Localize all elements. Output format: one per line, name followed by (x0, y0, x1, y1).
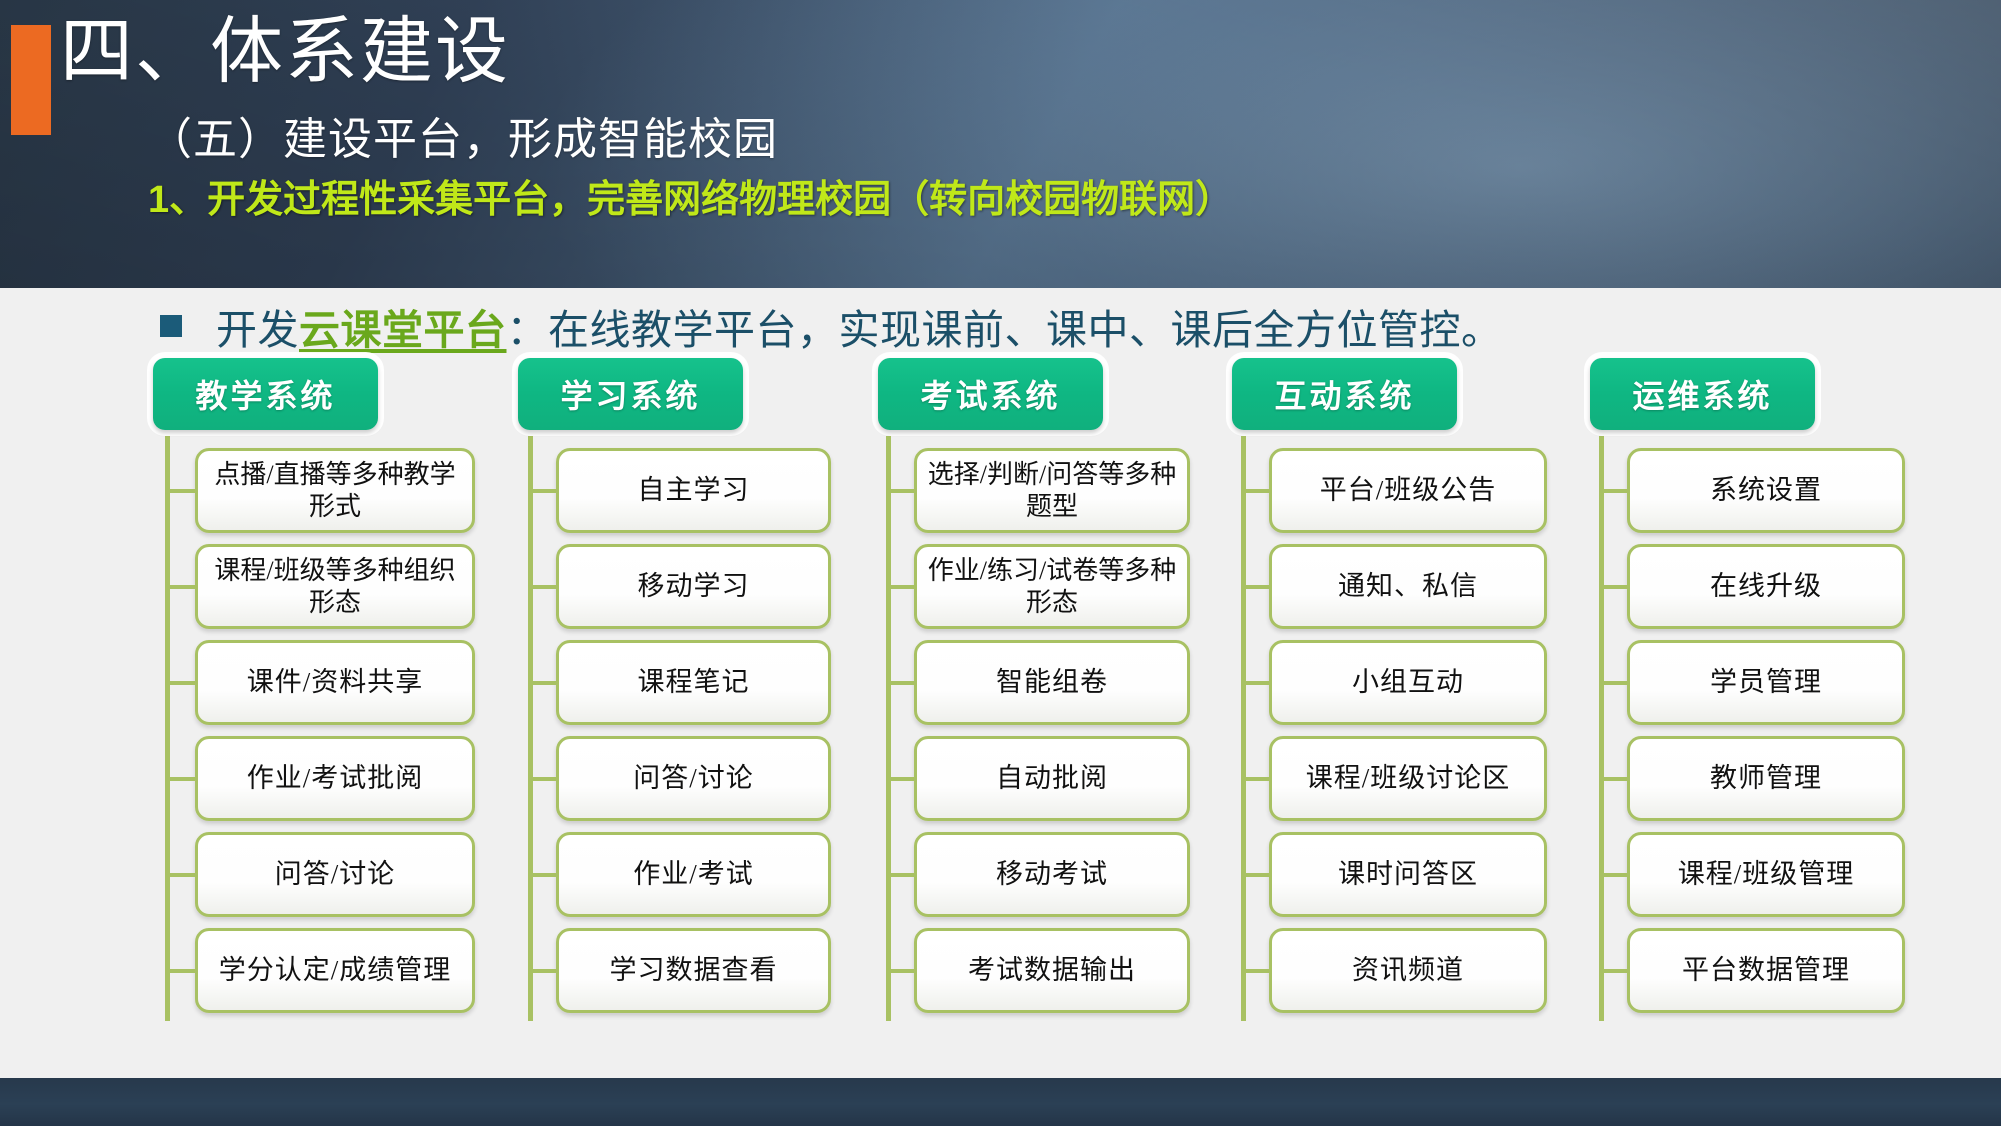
chart-item[interactable]: 移动学习 (556, 544, 831, 629)
column-items: 选择/判断/问答等多种题型 作业/练习/试卷等多种形态 智能组卷 自动批阅 移动… (856, 448, 1214, 1013)
chart-item-label: 资讯频道 (1344, 954, 1472, 987)
chart-item-label: 课件/资料共享 (239, 666, 432, 699)
chart-item-label: 作业/考试 (625, 858, 762, 891)
chart-column-interaction: 互动系统 平台/班级公告 通知、私信 小组互动 课程/班级讨论区 课时问答区 资… (1214, 358, 1572, 1078)
chart-column-learning: 学习系统 自主学习 移动学习 课程笔记 问答/讨论 作业/考试 学习数据查看 (498, 358, 856, 1078)
chart-item-label: 小组互动 (1344, 666, 1472, 699)
header-band: 四、体系建设 （五）建设平台，形成智能校园 1、开发过程性采集平台，完善网络物理… (0, 0, 2001, 288)
column-header-operations[interactable]: 运维系统 (1590, 358, 1815, 430)
chart-item[interactable]: 系统设置 (1627, 448, 1905, 533)
chart-item-label: 平台/班级公告 (1312, 474, 1505, 507)
chart-item-label: 平台数据管理 (1674, 954, 1858, 987)
chart-item[interactable]: 作业/考试 (556, 832, 831, 917)
chart-item-label: 课程笔记 (630, 666, 758, 699)
chart-item[interactable]: 学习数据查看 (556, 928, 831, 1013)
platform-structure-chart: 教学系统 点播/直播等多种教学形式 课程/班级等多种组织形态 课件/资料共享 作… (140, 358, 1930, 1078)
chart-item[interactable]: 选择/判断/问答等多种题型 (914, 448, 1190, 533)
chart-item[interactable]: 课件/资料共享 (195, 640, 475, 725)
chart-item[interactable]: 课时问答区 (1269, 832, 1547, 917)
chart-item-label: 作业/练习/试卷等多种形态 (917, 555, 1187, 618)
chart-item[interactable]: 在线升级 (1627, 544, 1905, 629)
orange-accent-bar (11, 25, 51, 135)
chart-item[interactable]: 课程笔记 (556, 640, 831, 725)
chart-item-label: 点播/直播等多种教学形式 (198, 459, 472, 522)
chart-item[interactable]: 平台数据管理 (1627, 928, 1905, 1013)
chart-item[interactable]: 平台/班级公告 (1269, 448, 1547, 533)
chart-item[interactable]: 考试数据输出 (914, 928, 1190, 1013)
chart-item[interactable]: 智能组卷 (914, 640, 1190, 725)
column-header-label: 互动系统 (1274, 371, 1414, 417)
chart-item-label: 课程/班级等多种组织形态 (198, 555, 472, 618)
column-header-learning[interactable]: 学习系统 (518, 358, 743, 430)
column-header-label: 考试系统 (920, 371, 1060, 417)
chart-item-label: 通知、私信 (1330, 570, 1486, 603)
bullet-suffix: ：在线教学平台，实现课前、课中、课后全方位管控。 (507, 307, 1503, 353)
bullet-highlight: 云课堂平台 (299, 307, 507, 353)
column-items: 系统设置 在线升级 学员管理 教师管理 课程/班级管理 平台数据管理 (1572, 448, 1930, 1013)
column-header-exam[interactable]: 考试系统 (878, 358, 1103, 430)
chart-item-label: 课程/班级管理 (1670, 858, 1863, 891)
page-subtitle: （五）建设平台，形成智能校园 (148, 103, 778, 167)
bullet-text: 开发云课堂平台：在线教学平台，实现课前、课中、课后全方位管控。 (216, 296, 1503, 356)
chart-item-label: 课时问答区 (1330, 858, 1486, 891)
chart-item[interactable]: 自动批阅 (914, 736, 1190, 821)
chart-item[interactable]: 学员管理 (1627, 640, 1905, 725)
chart-item[interactable]: 点播/直播等多种教学形式 (195, 448, 475, 533)
chart-item-label: 自动批阅 (988, 762, 1116, 795)
chart-item[interactable]: 问答/讨论 (195, 832, 475, 917)
chart-item-label: 系统设置 (1702, 474, 1830, 507)
chart-item-label: 在线升级 (1702, 570, 1830, 603)
chart-column-exam: 考试系统 选择/判断/问答等多种题型 作业/练习/试卷等多种形态 智能组卷 自动… (856, 358, 1214, 1078)
chart-item[interactable]: 课程/班级管理 (1627, 832, 1905, 917)
bullet-prefix: 开发 (216, 307, 299, 353)
chart-item[interactable]: 作业/练习/试卷等多种形态 (914, 544, 1190, 629)
column-header-interaction[interactable]: 互动系统 (1232, 358, 1457, 430)
page-title: 四、体系建设 (60, 13, 510, 90)
chart-item[interactable]: 课程/班级讨论区 (1269, 736, 1547, 821)
chart-item-label: 问答/讨论 (625, 762, 762, 795)
bullet-row: 开发云课堂平台：在线教学平台，实现课前、课中、课后全方位管控。 (160, 296, 1503, 356)
chart-item-label: 课程/班级讨论区 (1298, 762, 1519, 795)
bottom-strip (0, 1078, 2001, 1126)
chart-item-label: 问答/讨论 (267, 858, 404, 891)
chart-item-label: 移动考试 (988, 858, 1116, 891)
chart-item[interactable]: 资讯频道 (1269, 928, 1547, 1013)
chart-item-label: 自主学习 (630, 474, 758, 507)
chart-item-label: 智能组卷 (988, 666, 1116, 699)
slide-root: 四、体系建设 （五）建设平台，形成智能校园 1、开发过程性采集平台，完善网络物理… (0, 0, 2001, 1126)
page-highlight-line: 1、开发过程性采集平台，完善网络物理校园（转向校园物联网） (148, 168, 1233, 223)
chart-item[interactable]: 教师管理 (1627, 736, 1905, 821)
chart-item[interactable]: 通知、私信 (1269, 544, 1547, 629)
chart-item-label: 学分认定/成绩管理 (211, 954, 460, 987)
column-header-teaching[interactable]: 教学系统 (153, 358, 378, 430)
chart-item-label: 考试数据输出 (960, 954, 1144, 987)
chart-item-label: 选择/判断/问答等多种题型 (917, 459, 1187, 522)
chart-column-teaching: 教学系统 点播/直播等多种教学形式 课程/班级等多种组织形态 课件/资料共享 作… (140, 358, 498, 1078)
chart-item[interactable]: 课程/班级等多种组织形态 (195, 544, 475, 629)
bullet-square-icon (160, 315, 182, 337)
chart-item-label: 学员管理 (1702, 666, 1830, 699)
column-items: 自主学习 移动学习 课程笔记 问答/讨论 作业/考试 学习数据查看 (498, 448, 856, 1013)
chart-item[interactable]: 作业/考试批阅 (195, 736, 475, 821)
column-header-label: 运维系统 (1632, 371, 1772, 417)
column-header-label: 教学系统 (195, 371, 335, 417)
column-items: 点播/直播等多种教学形式 课程/班级等多种组织形态 课件/资料共享 作业/考试批… (140, 448, 498, 1013)
chart-item[interactable]: 问答/讨论 (556, 736, 831, 821)
chart-item[interactable]: 移动考试 (914, 832, 1190, 917)
chart-item-label: 学习数据查看 (602, 954, 786, 987)
chart-item[interactable]: 自主学习 (556, 448, 831, 533)
chart-column-operations: 运维系统 系统设置 在线升级 学员管理 教师管理 课程/班级管理 平台数据管理 (1572, 358, 1930, 1078)
chart-item-label: 教师管理 (1702, 762, 1830, 795)
chart-item-label: 作业/考试批阅 (239, 762, 432, 795)
chart-item[interactable]: 小组互动 (1269, 640, 1547, 725)
column-items: 平台/班级公告 通知、私信 小组互动 课程/班级讨论区 课时问答区 资讯频道 (1214, 448, 1572, 1013)
column-header-label: 学习系统 (560, 371, 700, 417)
chart-item-label: 移动学习 (630, 570, 758, 603)
chart-item[interactable]: 学分认定/成绩管理 (195, 928, 475, 1013)
